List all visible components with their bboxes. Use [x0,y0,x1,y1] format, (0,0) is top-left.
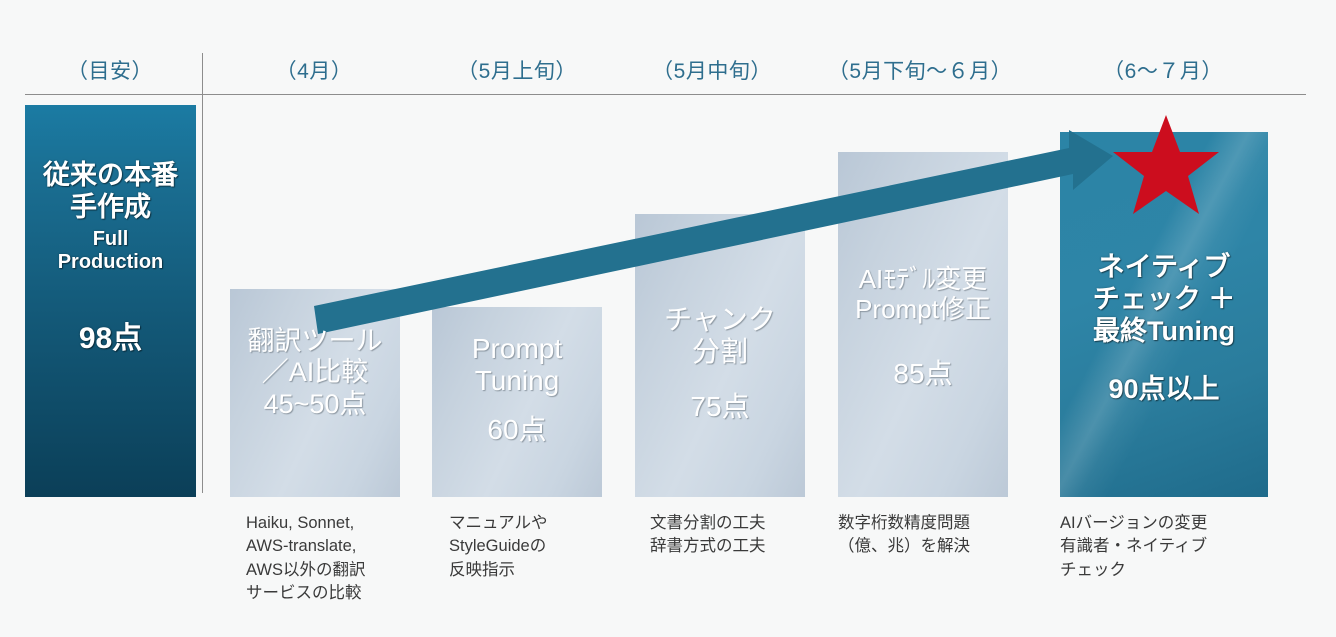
bar-native-check-title-line-0: ネイティブ [1060,252,1268,284]
bar-baseline-title-line-1: 手作成 [25,192,196,224]
bar-tool-comparison-score: 45~50点 [230,389,400,420]
bar-chunk-split[interactable]: チャンク 分割 75点 [635,214,805,497]
bar-model-change-title-line-1: Prompt修正 [838,294,1008,324]
bar-model-change-score: 85点 [838,358,1008,390]
bar-baseline[interactable]: 従来の本番 手作成 Full Production 98点 [25,105,196,497]
bar-tool-comparison[interactable]: 翻訳ツール ／AI比較 45~50点 [230,289,400,497]
bar-native-check-title-line-2: 最終Tuning [1060,316,1268,348]
timeline-header-4: （5月下旬～６月） [828,55,1012,85]
timeline-header-1: （4月） [276,55,353,85]
caption-prompt-tuning: マニュアルや StyleGuideの 反映指示 [449,512,634,582]
slide-canvas: （目安） （4月） （5月上旬） （5月中旬） （5月下旬～６月） （6～７月）… [0,0,1336,637]
timeline-header-5: （6～７月） [1103,55,1223,85]
caption-native-check: AIバージョンの変更 有識者・ネイティブ チェック [1060,512,1275,582]
timeline-horizontal-rule [25,94,1306,95]
bar-native-check-title-line-1: チェック ＋ [1060,284,1268,316]
bar-model-change[interactable]: AIﾓﾃﾞﾙ変更 Prompt修正 85点 [838,152,1008,497]
bar-native-check[interactable]: ネイティブ チェック ＋ 最終Tuning 90点以上 [1060,132,1268,497]
bar-prompt-tuning-title-line-1: Tuning [432,365,602,397]
bar-baseline-title-line-0: 従来の本番 [25,160,196,192]
bar-tool-comparison-title-line-0: 翻訳ツール [230,326,400,357]
bar-prompt-tuning-score: 60点 [432,414,602,446]
bar-baseline-score: 98点 [25,321,196,356]
bar-chunk-split-score: 75点 [635,391,805,423]
bar-baseline-subtitle-line-0: Full [25,228,196,252]
bar-native-check-score: 90点以上 [1060,374,1268,406]
bar-tool-comparison-title-line-1: ／AI比較 [230,357,400,388]
bar-model-change-title-line-0: AIﾓﾃﾞﾙ変更 [838,264,1008,294]
bar-prompt-tuning-title-line-0: Prompt [432,333,602,365]
bar-prompt-tuning[interactable]: Prompt Tuning 60点 [432,307,602,497]
bar-chunk-split-title-line-1: 分割 [635,336,805,368]
bar-chunk-split-title-line-0: チャンク [635,304,805,336]
timeline-vertical-divider [202,53,203,493]
bar-baseline-subtitle-line-1: Production [25,251,196,275]
caption-model-change: 数字桁数精度問題 （億、兆）を解決 [838,512,1048,559]
timeline-header-2: （5月上旬） [457,55,577,85]
timeline-header-0: （目安） [67,55,153,85]
caption-tool-comparison: Haiku, Sonnet, AWS-translate, AWS以外の翻訳 サ… [246,512,431,606]
timeline-header-3: （5月中旬） [652,55,772,85]
caption-chunk-split: 文書分割の工夫 辞書方式の工夫 [650,512,835,559]
